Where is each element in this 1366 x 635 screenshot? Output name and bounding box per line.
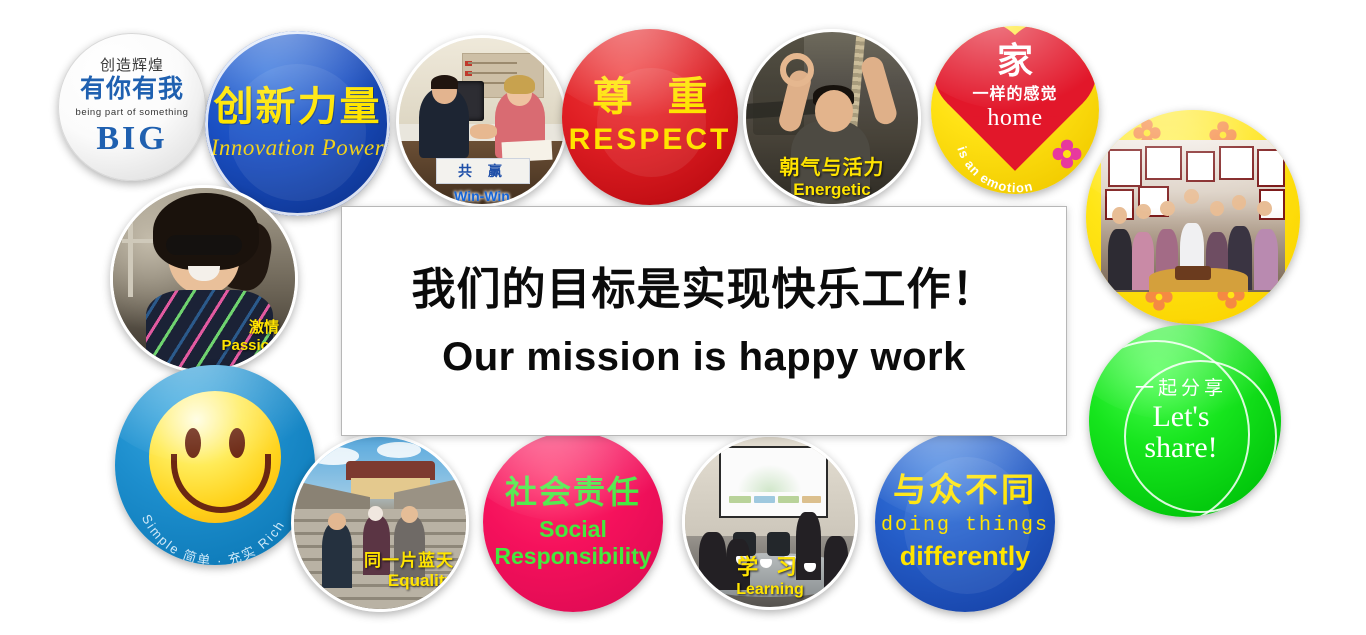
badge-winwin-en: Win-Win [399, 188, 565, 204]
badge-simple-rich-smiley[interactable]: Simple 简单 · 充实 Rich [115, 365, 315, 565]
svg-text:Simple 简单 · 充实 Rich: Simple 简单 · 充实 Rich [139, 512, 288, 565]
badge-social-cn: 社会责任 [505, 475, 641, 510]
pink-flower-icon [1049, 136, 1085, 172]
badge-lets-share[interactable]: 一起分享 Let's share! [1089, 325, 1281, 517]
badge-respect[interactable]: 尊 重 RESPECT [562, 29, 738, 205]
badge-win-win[interactable]: 共 赢 Win-Win [396, 35, 568, 207]
badge-respect-en: RESPECT [569, 123, 732, 157]
badge-learning-cn: 学 习 [685, 551, 855, 581]
badge-passion-cn: 激情 [221, 316, 279, 337]
badge-share-en1: Let's [1135, 401, 1227, 433]
badge-energetic[interactable]: 朝气与活力 Energetic [743, 29, 921, 207]
badge-big-cn-top: 创造辉煌 [100, 58, 164, 75]
badge-passion-caption: 激情 Passion [221, 316, 279, 354]
badge-equality-cn: 同一片蓝天 [364, 546, 454, 571]
badge-differently-cn: 与众不同 [893, 472, 1037, 508]
badge-innovation-cn: 创新力量 [214, 87, 382, 127]
badge-smile-curved-text: Simple 简单 · 充实 Rich [115, 365, 315, 565]
badge-innovation-en: Innovation Power [211, 135, 384, 161]
team-group-photo [1101, 140, 1285, 292]
badge-winwin-cn: 共 赢 [458, 163, 508, 179]
badge-social-en1: Social [539, 516, 607, 542]
badge-respect-cn: 尊 重 [580, 77, 719, 117]
badge-social-en2: Responsibility [494, 543, 651, 569]
badge-home-is-an-emotion[interactable]: 家 一样的感觉 home is an emotion [931, 26, 1099, 194]
badge-doing-things-differently[interactable]: 与众不同 doing things differently [875, 432, 1055, 612]
badge-share-en2: share! [1135, 432, 1227, 464]
badge-learning-caption: 学 习 Learning [685, 551, 855, 599]
badge-being-part-of-something-big[interactable]: 创造辉煌 有你有我 being part of something BIG [58, 33, 206, 181]
badge-equality-en: Equality [364, 571, 454, 591]
badge-energetic-en: Energetic [746, 180, 918, 200]
values-collage: 创造辉煌 有你有我 being part of something BIG 创新… [0, 0, 1366, 635]
badge-big-en-big: BIG [96, 122, 167, 156]
badge-team-photo[interactable] [1086, 110, 1300, 324]
mission-banner: 我们的目标是实现快乐工作！ Our mission is happy work [341, 206, 1067, 436]
badge-big-cn-main: 有你有我 [80, 75, 184, 104]
win-win-nameplate: 共 赢 [436, 158, 531, 184]
svg-text:is an emotion: is an emotion [954, 144, 1034, 194]
badge-energetic-cn: 朝气与活力 [746, 151, 918, 180]
badge-passion[interactable]: 激情 Passion [110, 185, 298, 373]
badge-differently-en1: doing things [881, 514, 1049, 537]
badge-social-responsibility[interactable]: 社会责任 Social Responsibility [483, 432, 663, 612]
badge-differently-en2: differently [900, 541, 1031, 572]
badge-learning-en: Learning [685, 581, 855, 599]
mission-line-en: Our mission is happy work [442, 335, 966, 380]
badge-passion-en: Passion [221, 337, 279, 354]
badge-big-en-small: being part of something [75, 107, 188, 118]
badge-equality[interactable]: 同一片蓝天 Equality [291, 434, 469, 612]
mission-line-cn: 我们的目标是实现快乐工作！ [412, 262, 997, 317]
badge-equality-caption: 同一片蓝天 Equality [364, 546, 454, 591]
badge-energetic-caption: 朝气与活力 Energetic [746, 151, 918, 200]
badge-learning[interactable]: 学 习 Learning [682, 434, 858, 610]
badge-share-cn: 一起分享 [1135, 378, 1227, 401]
